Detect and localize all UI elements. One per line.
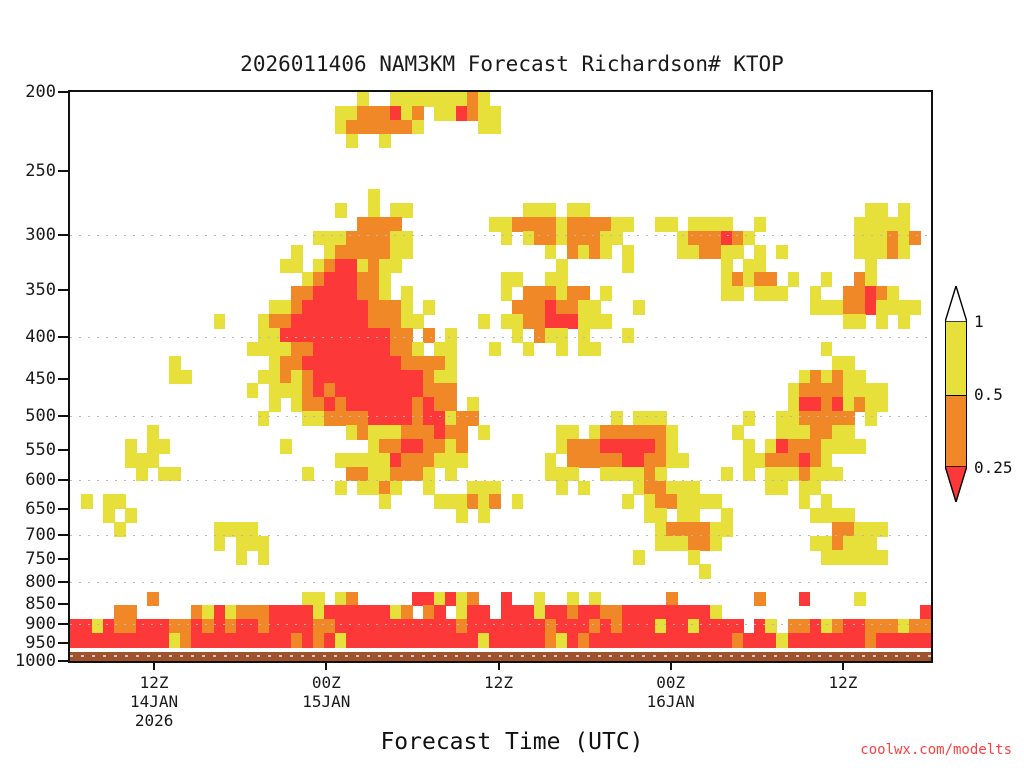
colorbar-under-cap xyxy=(945,466,967,502)
y-tick-mark xyxy=(58,91,68,93)
y-tick-label: 250 xyxy=(25,161,56,181)
colorbar-tick-label: 0.25 xyxy=(974,458,1013,477)
y-tick-mark xyxy=(58,415,68,417)
x-tick-mark xyxy=(670,663,672,670)
x-tick-mark xyxy=(842,663,844,670)
chart-root: 2026011406 NAM3KM Forecast Richardson# K… xyxy=(0,0,1024,768)
y-tick-mark xyxy=(58,623,68,625)
y-tick-label: 850 xyxy=(25,594,56,614)
x-tick-label: 12Z xyxy=(798,673,888,692)
y-tick-mark xyxy=(58,449,68,451)
y-tick-label: 650 xyxy=(25,499,56,519)
y-tick-mark xyxy=(58,378,68,380)
y-tick-label: 350 xyxy=(25,280,56,300)
y-tick-mark xyxy=(58,479,68,481)
y-tick-label: 200 xyxy=(25,82,56,102)
colorbar-bar xyxy=(945,321,967,467)
x-tick-label: 12Z xyxy=(454,673,544,692)
x-tick-label: 00Z16JAN xyxy=(626,673,716,711)
colorbar-segment xyxy=(946,395,966,469)
y-tick-label: 700 xyxy=(25,525,56,545)
y-tick-mark xyxy=(58,336,68,338)
y-tick-label: 500 xyxy=(25,406,56,426)
y-tick-label: 750 xyxy=(25,549,56,569)
terrain-top-gridline xyxy=(70,655,931,657)
y-tick-label: 800 xyxy=(25,572,56,592)
y-tick-label: 1000 xyxy=(15,651,56,671)
chart-title: 2026011406 NAM3KM Forecast Richardson# K… xyxy=(0,52,1024,76)
x-tick-mark xyxy=(153,663,155,670)
y-tick-label: 900 xyxy=(25,614,56,634)
y-tick-mark xyxy=(58,642,68,644)
y-tick-mark xyxy=(58,234,68,236)
y-tick-mark xyxy=(58,660,68,662)
credit-watermark: coolwx.com/modelts xyxy=(860,742,1012,758)
x-tick-mark xyxy=(498,663,500,670)
colorbar-legend: 10.50.25 xyxy=(938,286,1024,486)
y-tick-mark xyxy=(58,603,68,605)
y-tick-mark xyxy=(58,558,68,560)
y-tick-label: 550 xyxy=(25,440,56,460)
y-tick-mark xyxy=(58,289,68,291)
y-tick-label: 300 xyxy=(25,225,56,245)
colorbar-segment xyxy=(946,322,966,395)
x-tick-label: 00Z15JAN xyxy=(281,673,371,711)
colorbar-over-cap xyxy=(945,286,967,322)
colorbar-tick-label: 0.5 xyxy=(974,385,1003,404)
terrain-band xyxy=(70,92,931,661)
gridline xyxy=(70,661,931,662)
y-axis: 2002503003504004505005506006507007508008… xyxy=(0,90,68,663)
x-tick-mark xyxy=(325,663,327,670)
y-tick-label: 450 xyxy=(25,369,56,389)
y-tick-label: 400 xyxy=(25,327,56,347)
y-tick-mark xyxy=(58,534,68,536)
y-tick-label: 600 xyxy=(25,470,56,490)
plot-area xyxy=(68,90,933,663)
colorbar-tick-label: 1 xyxy=(974,312,984,331)
x-tick-label: 12Z14JAN2026 xyxy=(109,673,199,730)
y-tick-mark xyxy=(58,508,68,510)
y-tick-label: 950 xyxy=(25,633,56,653)
y-tick-mark xyxy=(58,581,68,583)
y-tick-mark xyxy=(58,170,68,172)
